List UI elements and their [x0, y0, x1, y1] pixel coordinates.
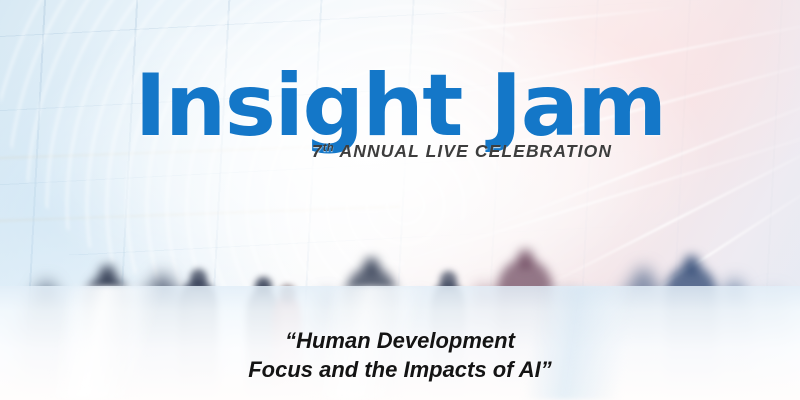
edition-number: 7 [312, 141, 323, 161]
event-banner: Insight Jam 7th ANNUAL LIVE CELEBRATION … [0, 0, 800, 400]
subtitle-text: ANNUAL LIVE CELEBRATION [339, 141, 612, 161]
event-tagline: “Human Development Focus and the Impacts… [0, 326, 800, 384]
event-subtitle: 7th ANNUAL LIVE CELEBRATION [0, 141, 800, 162]
insight-jam-logo: Insight Jam [0, 63, 800, 149]
tagline-line-2: Focus and the Impacts of AI” [0, 355, 800, 384]
edition-ordinal-suffix: th [323, 142, 334, 154]
logo-wordmark: Insight Jam [135, 63, 666, 149]
tagline-line-1: “Human Development [0, 326, 800, 355]
